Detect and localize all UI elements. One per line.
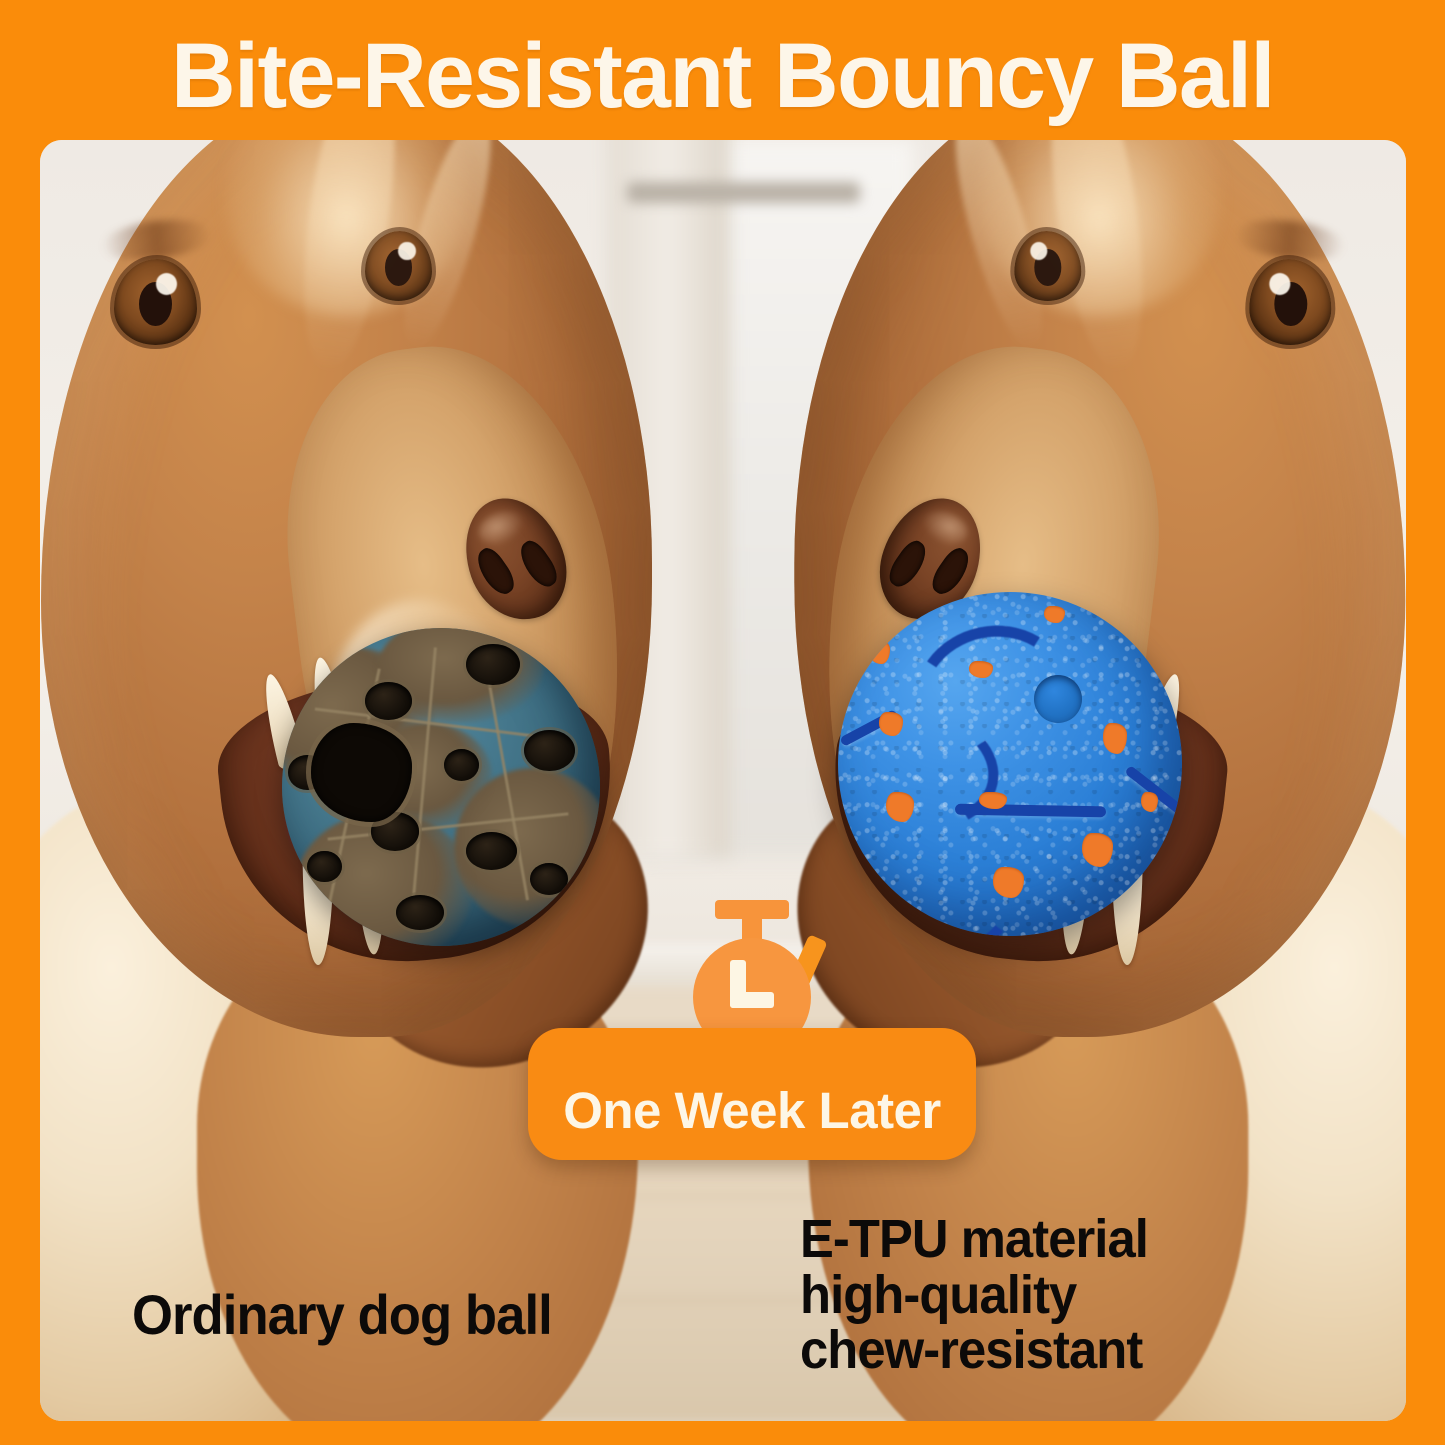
dog-left-eye-far (365, 231, 432, 301)
badge-label: One Week Later (563, 1081, 941, 1160)
dog-left-eye-near (114, 259, 196, 344)
caption-etpu-benefits: E-TPU material high-quality chew-resista… (800, 1212, 1148, 1379)
caption-line-2: high-quality (800, 1268, 1148, 1324)
one-week-later-badge-group: One Week Later (528, 900, 976, 1162)
dog-left-nose (450, 484, 581, 633)
caption-line-1: E-TPU material (800, 1212, 1148, 1268)
one-week-later-badge[interactable]: One Week Later (528, 1028, 976, 1160)
caption-ordinary-ball: Ordinary dog ball (132, 1282, 552, 1347)
ball-dimple (1034, 675, 1082, 723)
ball-tear-hole (311, 723, 413, 822)
dog-right-eye-near (1249, 259, 1331, 344)
product-infographic: Bite-Resistant Bouncy Ball (0, 0, 1445, 1445)
page-title: Bite-Resistant Bouncy Ball (22, 20, 1424, 132)
etpu-bouncy-ball (838, 592, 1182, 936)
caption-line-3: chew-resistant (800, 1323, 1148, 1379)
comparison-photo (40, 140, 1406, 1421)
worn-dog-ball (282, 628, 600, 946)
